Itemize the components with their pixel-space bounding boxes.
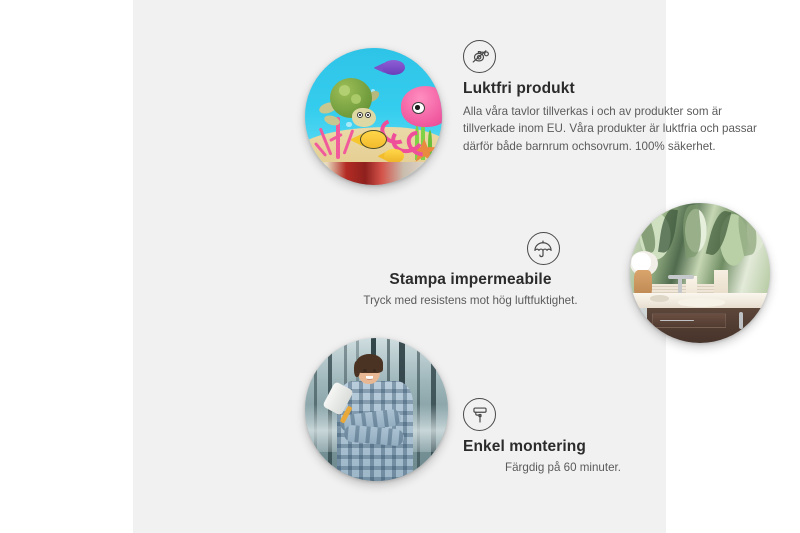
fish-body — [382, 60, 405, 75]
lower-photo-strip — [305, 162, 442, 185]
feature-body: Tryck med resistens mot hög luftfuktighe… — [338, 292, 603, 309]
infographic-panel: Luktfri produkt Alla våra tavlor tillver… — [133, 0, 666, 533]
feature-body: Färgdig på 60 minuter. — [463, 459, 663, 476]
umbrella-icon — [527, 232, 560, 265]
yellow-fish — [360, 130, 387, 149]
feature-odour-free: Luktfri produkt Alla våra tavlor tillver… — [463, 40, 763, 155]
wallpaper-leaf — [681, 204, 704, 257]
wood-vanity-cabinet — [647, 308, 770, 343]
woman-figure — [334, 358, 417, 481]
feature-body: Alla våra tavlor tillverkas i och av pro… — [463, 103, 763, 155]
infographic-canvas: Luktfri produkt Alla våra tavlor tillver… — [0, 0, 800, 533]
wallpaper-leaf — [658, 208, 678, 254]
feature-title: Stampa impermeabile — [338, 271, 603, 289]
sink-basin — [678, 298, 726, 306]
fish-body — [360, 130, 387, 149]
turtle-head — [352, 108, 376, 127]
feature-waterproof: Stampa impermeabile Tryck med resistens … — [338, 232, 603, 309]
woman-with-paint-roller-forest-photo — [305, 338, 448, 481]
cabinet-handle — [739, 312, 743, 329]
turtle-eye — [357, 112, 363, 118]
turtle-eye — [365, 112, 371, 118]
octopus-eye — [412, 102, 425, 114]
turtle-flipper — [323, 114, 342, 128]
eye — [363, 369, 366, 372]
wallpaper-leaf — [706, 209, 732, 258]
feature-easy-mounting: Enkel montering Färgdig på 60 minuter. — [463, 398, 723, 476]
sea-turtle — [321, 78, 380, 136]
purple-fish — [382, 60, 405, 75]
pink-octopus — [387, 86, 442, 149]
wallpaper-leaf — [734, 205, 760, 255]
feature-title: Luktfri produkt — [463, 80, 763, 98]
wallpaper-leaf — [636, 213, 659, 254]
no-fragrance-spray-icon — [463, 40, 496, 73]
hair — [356, 354, 383, 372]
feature-title: Enkel montering — [463, 438, 723, 456]
octopus-head — [401, 86, 442, 126]
underwater-kids-scene-photo — [305, 48, 442, 185]
bathroom-tropical-wallpaper-photo — [630, 203, 770, 343]
paint-roller-icon — [463, 398, 496, 431]
